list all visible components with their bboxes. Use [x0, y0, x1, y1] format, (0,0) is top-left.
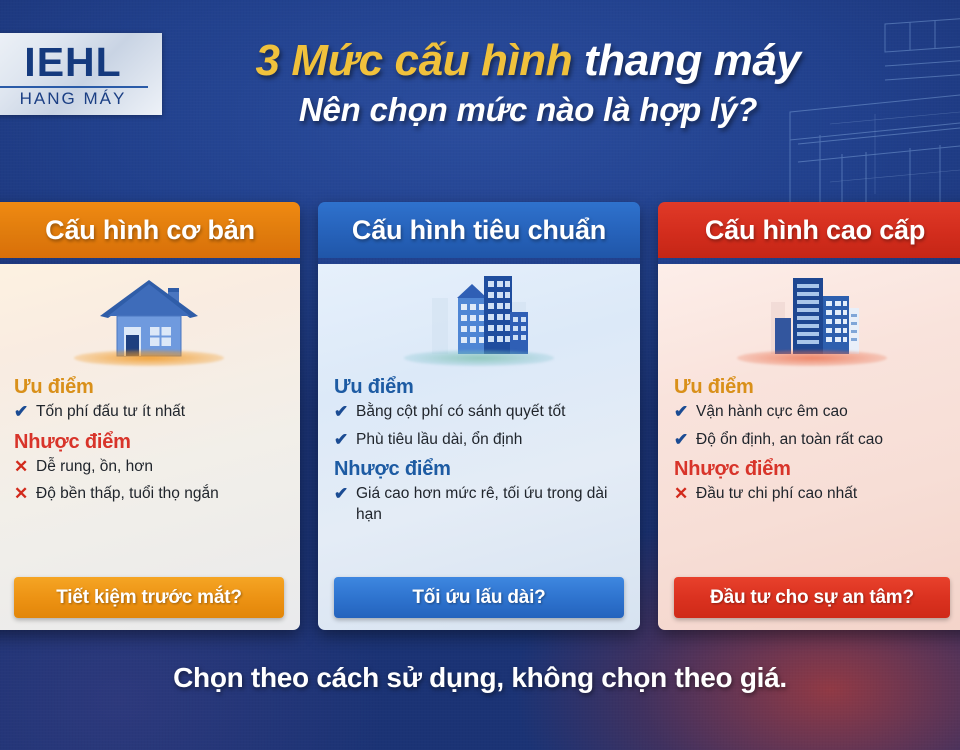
cross-icon: ✕ — [14, 457, 36, 478]
logo-divider — [0, 86, 148, 88]
list-item: ✔ Độ ổn định, an toàn rất cao — [674, 430, 950, 451]
card-standard-body: Ưu điểm ✔ Bằng cột phí có sánh quyết tốt… — [318, 264, 640, 630]
card-basic-pros-title: Ưu điểm — [14, 376, 284, 399]
check-icon: ✔ — [14, 402, 36, 423]
card-premium-header: Cấu hình cao cấp — [658, 202, 960, 258]
list-item: ✕ Dễ rung, ồn, hơn — [14, 457, 284, 478]
header-banner: IEHL HANG MÁY 3 Mức cấu hình thang máy N… — [0, 0, 960, 190]
artwork-pedestal — [737, 350, 887, 366]
card-basic-cta-button[interactable]: Tiết kiệm trước mắt? — [14, 577, 284, 618]
card-premium-pros-title: Ưu điểm — [674, 376, 950, 399]
con-text: Dễ rung, ồn, hơn — [36, 457, 284, 477]
card-premium[interactable]: Cấu hình cao cấp — [658, 202, 960, 630]
cross-icon: ✕ — [674, 484, 696, 505]
con-text: Giá cao hơn mức rê, tối ứu trong dài hạn — [356, 484, 624, 525]
pro-text: Phù tiêu lầu dài, ổn định — [356, 430, 624, 450]
check-icon: ✔ — [334, 430, 356, 451]
card-premium-pros-list: ✔ Vận hành cực êm cao ✔ Độ ổn định, an t… — [674, 402, 950, 450]
card-standard-cons-title: Nhược điểm — [334, 458, 624, 481]
list-item: ✔ Giá cao hơn mức rê, tối ứu trong dài h… — [334, 484, 624, 525]
artwork-pedestal — [74, 350, 224, 366]
card-basic-pros-list: ✔ Tốn phí đấu tư ít nhất — [14, 402, 284, 423]
card-standard[interactable]: Cấu hình tiêu chuẩn — [318, 202, 640, 630]
card-standard-header: Cấu hình tiêu chuẩn — [318, 202, 640, 258]
footer-tagline: Chọn theo cách sử dụng, không chọn theo … — [0, 662, 960, 694]
check-icon: ✔ — [334, 484, 356, 505]
card-standard-pros-list: ✔ Bằng cột phí có sánh quyết tốt ✔ Phù t… — [334, 402, 624, 450]
cross-icon: ✕ — [14, 484, 36, 505]
card-basic-body: Ưu điểm ✔ Tốn phí đấu tư ít nhất Nhược đ… — [0, 264, 300, 630]
artwork-pedestal — [404, 350, 554, 366]
card-standard-cta-button[interactable]: Tối ứu lấu dài? — [334, 577, 624, 618]
card-premium-cons-title: Nhược điểm — [674, 458, 950, 481]
list-item: ✕ Độ bền thấp, tuổi thọ ngắn — [14, 484, 284, 505]
subtitle: Nên chọn mức nào là hợp lý? — [178, 91, 878, 129]
logo-brand-text: IEHL — [24, 42, 121, 83]
check-icon: ✔ — [334, 402, 356, 423]
card-basic[interactable]: Cấu hình cơ bản Ưu điểm — [0, 202, 300, 630]
pro-text: Vận hành cực êm cao — [696, 402, 950, 422]
list-item: ✔ Phù tiêu lầu dài, ổn định — [334, 430, 624, 451]
con-text: Độ bền thấp, tuổi thọ ngắn — [36, 484, 284, 504]
list-item: ✔ Vận hành cực êm cao — [674, 402, 950, 423]
card-basic-header: Cấu hình cơ bản — [0, 202, 300, 258]
con-text: Đầu tư chi phí cao nhất — [696, 484, 950, 504]
pro-text: Bằng cột phí có sánh quyết tốt — [356, 402, 624, 422]
card-standard-pros-title: Ưu điểm — [334, 376, 624, 399]
pro-text: Độ ổn định, an toàn rất cao — [696, 430, 950, 450]
check-icon: ✔ — [674, 402, 696, 423]
card-basic-cons-list: ✕ Dễ rung, ồn, hơn ✕ Độ bền thấp, tuổi t… — [14, 457, 284, 505]
main-title-highlight: 3 Mức cấu hình — [255, 36, 572, 85]
card-premium-body: Ưu điểm ✔ Vận hành cực êm cao ✔ Độ ổn đị… — [658, 264, 960, 630]
card-basic-artwork — [14, 264, 284, 368]
card-premium-cta-button[interactable]: Đầu tư cho sự an tâm? — [674, 577, 950, 618]
main-title: 3 Mức cấu hình thang máy — [178, 38, 878, 85]
main-title-rest: thang máy — [572, 36, 800, 85]
card-standard-cons-list: ✔ Giá cao hơn mức rê, tối ứu trong dài h… — [334, 484, 624, 525]
pro-text: Tốn phí đấu tư ít nhất — [36, 402, 284, 422]
card-standard-artwork — [334, 264, 624, 368]
infographic-canvas: IEHL HANG MÁY 3 Mức cấu hình thang máy N… — [0, 0, 960, 750]
card-premium-artwork — [674, 264, 950, 368]
logo-tagline: HANG MÁY — [20, 90, 127, 107]
card-basic-cons-title: Nhược điểm — [14, 431, 284, 454]
list-item: ✔ Bằng cột phí có sánh quyết tốt — [334, 402, 624, 423]
card-premium-cons-list: ✕ Đầu tư chi phí cao nhất — [674, 484, 950, 505]
company-logo[interactable]: IEHL HANG MÁY — [0, 33, 162, 115]
list-item: ✕ Đầu tư chi phí cao nhất — [674, 484, 950, 505]
check-icon: ✔ — [674, 430, 696, 451]
list-item: ✔ Tốn phí đấu tư ít nhất — [14, 402, 284, 423]
title-block: 3 Mức cấu hình thang máy Nên chọn mức nà… — [178, 38, 878, 129]
